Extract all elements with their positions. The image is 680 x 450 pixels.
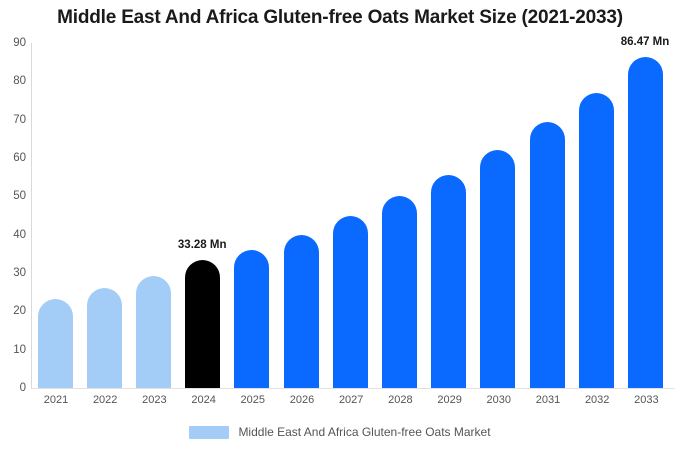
- x-axis-tick-label-2029: 2029: [426, 394, 474, 406]
- bar-slot: [277, 43, 325, 388]
- bar-slot: [31, 43, 79, 388]
- y-axis-tick-labels: 0102030405060708090: [0, 0, 26, 450]
- y-axis-tick-label: 40: [2, 229, 26, 241]
- bar-2030[interactable]: [480, 150, 515, 388]
- y-axis-tick-label: 90: [2, 37, 26, 49]
- bar-2032[interactable]: [579, 93, 614, 388]
- bar-2024[interactable]: [185, 260, 220, 388]
- x-axis-tick-label-2033: 2033: [622, 394, 670, 406]
- bar-slot: [80, 43, 128, 388]
- bar-2022[interactable]: [87, 288, 122, 388]
- bar-value-label-2033: 86.47 Mn: [621, 36, 670, 48]
- bar-slot: [375, 43, 423, 388]
- x-axis-tick-label-2025: 2025: [229, 394, 277, 406]
- x-axis-tick-label-2030: 2030: [475, 394, 523, 406]
- bar-2025[interactable]: [234, 250, 269, 388]
- bar-slot: [425, 43, 473, 388]
- x-axis-line: [31, 388, 675, 389]
- bar-2023[interactable]: [136, 276, 171, 388]
- bar-2029[interactable]: [431, 175, 466, 388]
- bar-chart: Middle East And Africa Gluten-free Oats …: [0, 0, 680, 450]
- x-axis-tick-label-2022: 2022: [81, 394, 129, 406]
- bar-slot: [621, 43, 669, 388]
- legend-swatch-icon: [189, 426, 229, 439]
- bar-2027[interactable]: [333, 216, 368, 388]
- x-axis-tick-label-2031: 2031: [524, 394, 572, 406]
- bar-2033[interactable]: [628, 57, 663, 388]
- bar-slot: [474, 43, 522, 388]
- y-axis-tick-label: 80: [2, 75, 26, 87]
- y-axis-tick-label: 10: [2, 344, 26, 356]
- x-axis-tick-label-2021: 2021: [32, 394, 80, 406]
- x-axis-tick-label-2024: 2024: [180, 394, 228, 406]
- x-axis-tick-label-2026: 2026: [278, 394, 326, 406]
- bar-2031[interactable]: [530, 122, 565, 388]
- bar-slot: [523, 43, 571, 388]
- bar-slot: [326, 43, 374, 388]
- bar-2028[interactable]: [382, 196, 417, 388]
- chart-title: Middle East And Africa Gluten-free Oats …: [0, 7, 680, 29]
- y-axis-tick-label: 60: [2, 152, 26, 164]
- bar-slot: [572, 43, 620, 388]
- bar-2026[interactable]: [284, 235, 319, 388]
- x-axis-tick-label-2032: 2032: [573, 394, 621, 406]
- y-axis-tick-label: 30: [2, 267, 26, 279]
- legend-label: Middle East And Africa Gluten-free Oats …: [238, 425, 490, 439]
- x-axis-tick-label-2028: 2028: [376, 394, 424, 406]
- y-axis-tick-label: 20: [2, 305, 26, 317]
- plot-area: [31, 43, 675, 388]
- bar-2021[interactable]: [38, 299, 73, 388]
- bar-slot: [228, 43, 276, 388]
- y-axis-tick-label: 0: [2, 382, 26, 394]
- bar-slot: [179, 43, 227, 388]
- y-axis-tick-label: 70: [2, 114, 26, 126]
- x-axis-tick-label-2027: 2027: [327, 394, 375, 406]
- y-axis-tick-label: 50: [2, 190, 26, 202]
- bar-slot: [129, 43, 177, 388]
- chart-legend[interactable]: Middle East And Africa Gluten-free Oats …: [0, 425, 680, 439]
- x-axis-tick-label-2023: 2023: [130, 394, 178, 406]
- bar-value-label-2024: 33.28 Mn: [178, 239, 227, 251]
